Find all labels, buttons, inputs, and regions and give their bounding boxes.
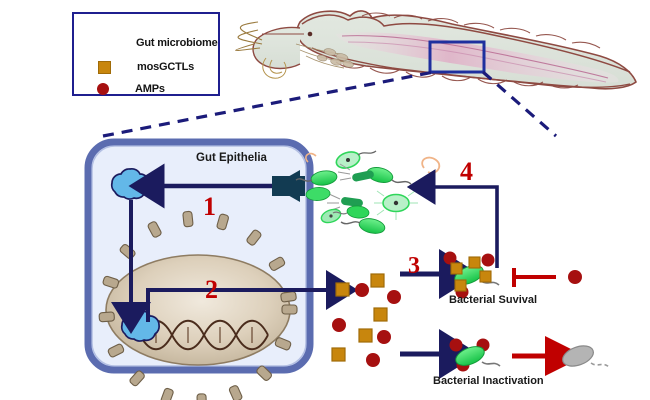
step-number-2: 2 bbox=[205, 275, 218, 305]
bacterial-survival-label: Bacterial Suvival bbox=[449, 294, 537, 306]
legend-box: Gut microbiome mosGCTLs AMPs bbox=[72, 12, 220, 96]
figure-canvas: Gut microbiome mosGCTLs AMPs Gut Epithel… bbox=[0, 0, 650, 400]
legend-item-amps: AMPs bbox=[97, 78, 165, 100]
gut-microbiome-cluster bbox=[296, 149, 439, 235]
legend-item-mosgctls: mosGCTLs bbox=[98, 56, 194, 78]
legend-item-gut-microbiome: Gut microbiome bbox=[136, 32, 218, 54]
step-number-4: 4 bbox=[460, 157, 473, 187]
dark-red-circle-icon bbox=[97, 83, 109, 95]
mosquito-anatomy bbox=[236, 11, 636, 89]
bacterial-survival-group bbox=[444, 252, 583, 299]
legend-label-amps: AMPs bbox=[135, 83, 165, 95]
amp-inhibition-symbol bbox=[513, 268, 556, 287]
mosgctl-amp-scatter bbox=[332, 274, 401, 367]
step-number-1: 1 bbox=[203, 192, 216, 222]
bacterial-inactivation-label: Bacterial Inactivation bbox=[433, 375, 544, 387]
gut-epithelia-label: Gut Epithelia bbox=[196, 152, 267, 164]
blocked-amp-circle bbox=[568, 270, 582, 284]
bacterial-inactivation-group bbox=[450, 339, 610, 372]
legend-label-mosgctls: mosGCTLs bbox=[137, 61, 194, 73]
step-number-3: 3 bbox=[408, 253, 420, 280]
legend-label-gut-microbiome: Gut microbiome bbox=[136, 37, 218, 49]
dead-bacterium bbox=[560, 342, 596, 370]
orange-square-icon bbox=[98, 61, 111, 74]
